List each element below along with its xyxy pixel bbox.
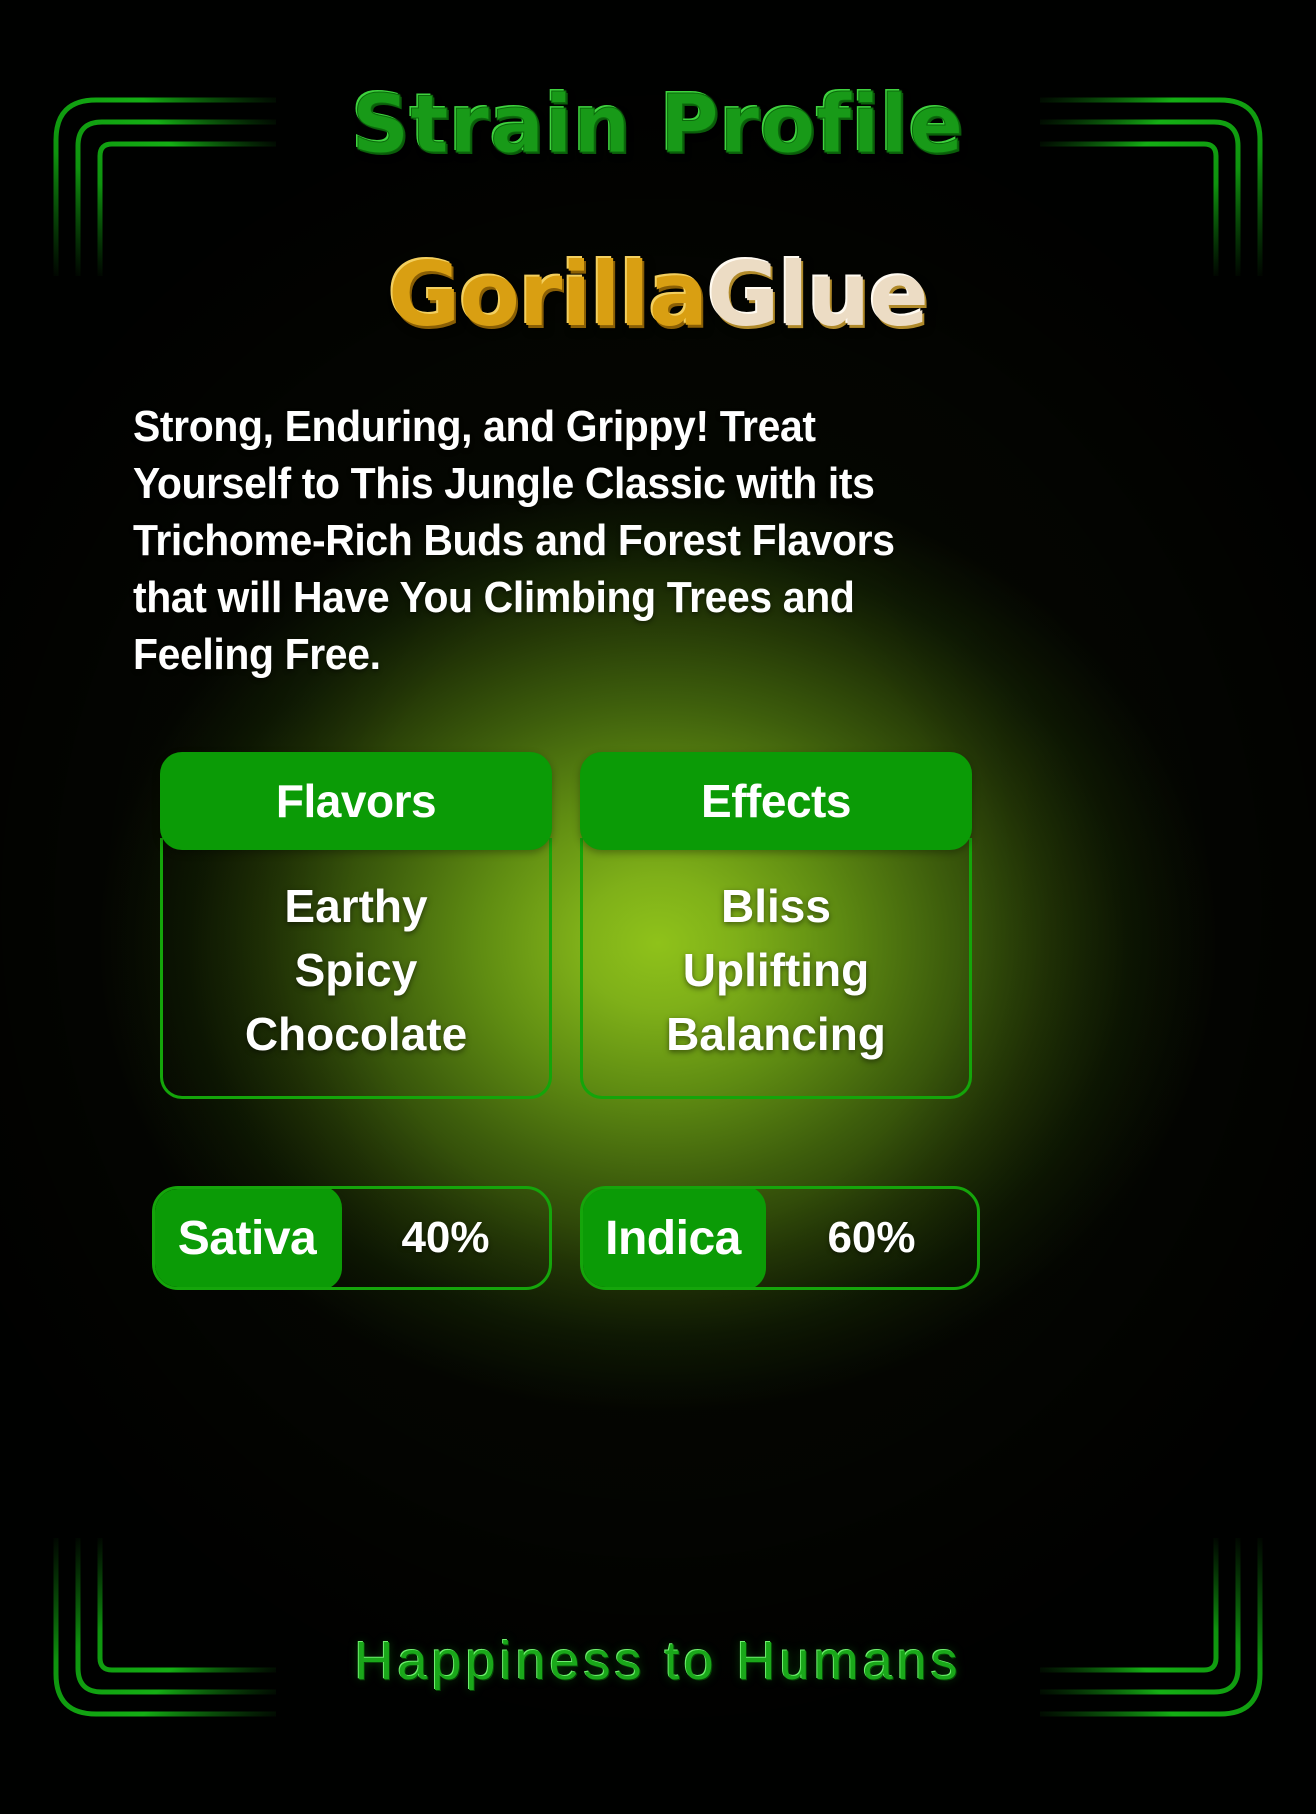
strain-name: GorillaGlue	[0, 243, 1316, 346]
list-item: Earthy	[173, 874, 539, 938]
list-item: Uplifting	[593, 938, 959, 1002]
indica-percent: 60%	[766, 1189, 977, 1287]
strain-name-secondary: Glue	[707, 243, 928, 346]
info-cards: Flavors Earthy Spicy Chocolate Effects B…	[160, 752, 1160, 1099]
sativa-ratio-bar: Sativa 40%	[152, 1186, 552, 1290]
effects-card-title: Effects	[580, 752, 972, 850]
list-item: Chocolate	[173, 1002, 539, 1066]
flavors-card-body: Earthy Spicy Chocolate	[160, 838, 552, 1099]
list-item: Bliss	[593, 874, 959, 938]
flavors-card-title: Flavors	[160, 752, 552, 850]
strain-name-primary: Gorilla	[388, 243, 707, 346]
flavors-card: Flavors Earthy Spicy Chocolate	[160, 752, 552, 1099]
list-item: Balancing	[593, 1002, 959, 1066]
list-item: Spicy	[173, 938, 539, 1002]
strain-description: Strong, Enduring, and Grippy! Treat Your…	[133, 398, 970, 683]
effects-card: Effects Bliss Uplifting Balancing	[580, 752, 972, 1099]
sativa-label: Sativa	[152, 1186, 342, 1290]
indica-ratio-bar: Indica 60%	[580, 1186, 980, 1290]
page-title: Strain Profile	[0, 78, 1316, 171]
sativa-percent: 40%	[342, 1189, 549, 1287]
effects-card-body: Bliss Uplifting Balancing	[580, 838, 972, 1099]
indica-label: Indica	[580, 1186, 766, 1290]
footer-tagline: Happiness to Humans	[0, 1630, 1316, 1692]
strain-profile-card: Strain Profile GorillaGlue Strong, Endur…	[0, 0, 1316, 1814]
genetics-ratio-bars: Sativa 40% Indica 60%	[152, 1186, 1164, 1290]
